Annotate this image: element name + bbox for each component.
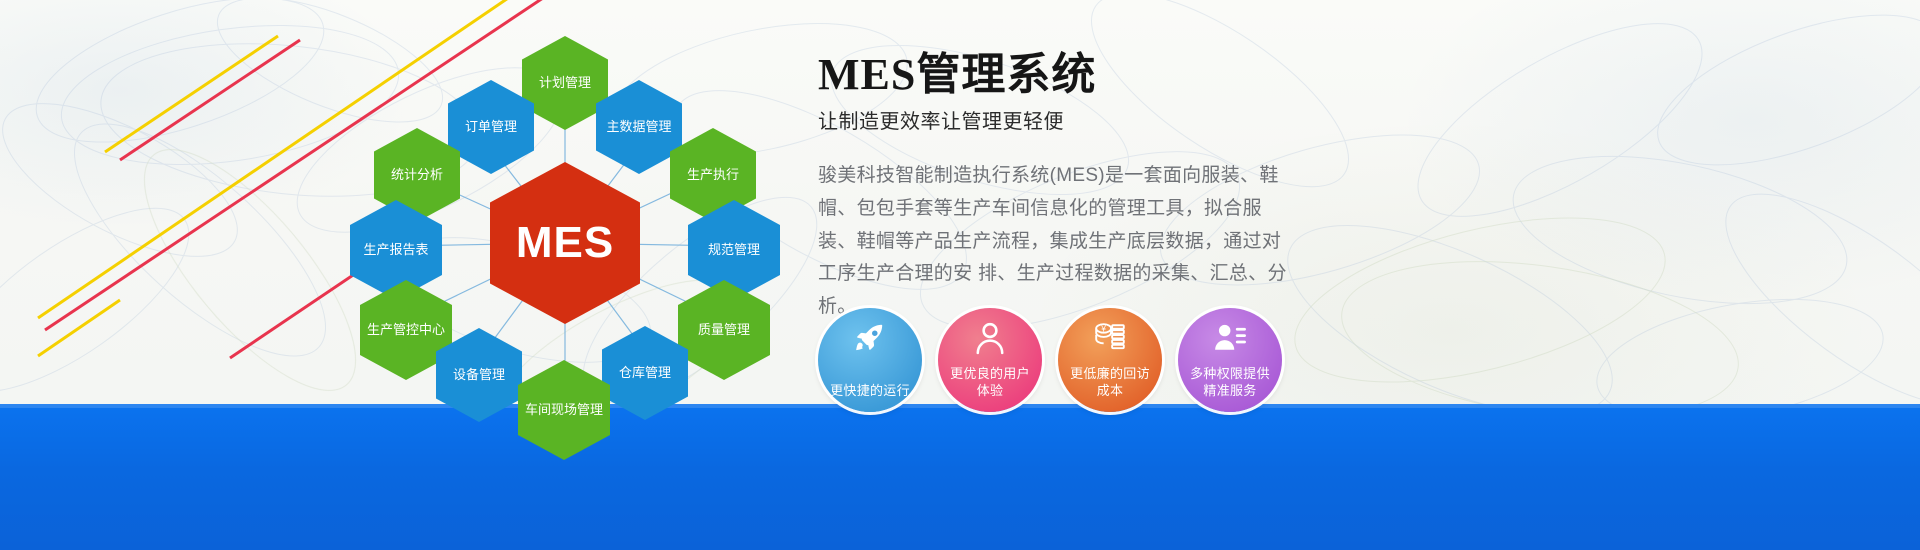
hex-node-label: 计划管理: [535, 75, 595, 90]
hero-description-text: 骏美科技智能制造执行系统(MES)是一套面向服装、鞋帽、包包手套等生产车间信息化…: [818, 160, 1288, 323]
feature-badge-multi-permission[interactable]: 多种权限提供精准服务: [1178, 308, 1282, 412]
hex-node-label: 车间现场管理: [521, 402, 607, 417]
feature-badge-better-user-experience[interactable]: 更优良的用户体验: [938, 308, 1042, 412]
coins-icon: ¥: [1093, 321, 1127, 355]
hex-node-label: 生产报告表: [359, 242, 432, 257]
hex-node-label: 规范管理: [704, 242, 764, 257]
feature-badge-list: 更快捷的运行 更优良的用户体验: [818, 308, 1282, 412]
feature-badge-label: 更低廉的回访成本: [1058, 365, 1162, 412]
feature-badge-label: 多种权限提供精准服务: [1178, 365, 1282, 412]
hex-node-label: 生产管控中心: [363, 322, 449, 337]
feature-badge-faster-operation[interactable]: 更快捷的运行: [818, 308, 922, 412]
feature-badge-lower-revisit-cost[interactable]: ¥ 更低廉的回访成本: [1058, 308, 1162, 412]
svg-text:¥: ¥: [1100, 324, 1106, 334]
user-icon: [973, 321, 1007, 355]
hex-node-label: 主数据管理: [602, 119, 675, 134]
hex-node-label: 订单管理: [461, 119, 521, 134]
hex-node-label: 质量管理: [694, 322, 754, 337]
hex-core-label: MES: [512, 217, 618, 269]
hex-node-label: 仓库管理: [615, 365, 675, 380]
page-subtitle: 让制造更效率让管理更轻便: [818, 110, 1378, 134]
hero-description: 骏美科技智能制造执行系统(MES)是一套面向服装、鞋帽、包包手套等生产车间信息化…: [818, 160, 1288, 323]
page-title: MES管理系统: [818, 52, 1378, 98]
rocket-icon: [853, 321, 887, 355]
mes-hero-banner: 计划管理 订单管理 主数据管理 统计分析 生产执行 生产报告表 规范管理 生产管…: [0, 0, 1920, 550]
hex-node-label: 生产执行: [683, 167, 743, 182]
mes-hexagon-diagram: 计划管理 订单管理 主数据管理 统计分析 生产执行 生产报告表 规范管理 生产管…: [330, 18, 800, 448]
banner-background-bottom: [0, 404, 1920, 550]
user-list-icon: [1213, 321, 1247, 355]
hero-text-block: MES管理系统 让制造更效率让管理更轻便 骏美科技智能制造执行系统(MES)是一…: [818, 52, 1378, 324]
feature-badge-label: 更优良的用户体验: [938, 365, 1042, 412]
feature-badge-label: 更快捷的运行: [818, 382, 922, 412]
hex-node-label: 设备管理: [449, 367, 509, 382]
hex-node-label: 统计分析: [387, 167, 447, 182]
